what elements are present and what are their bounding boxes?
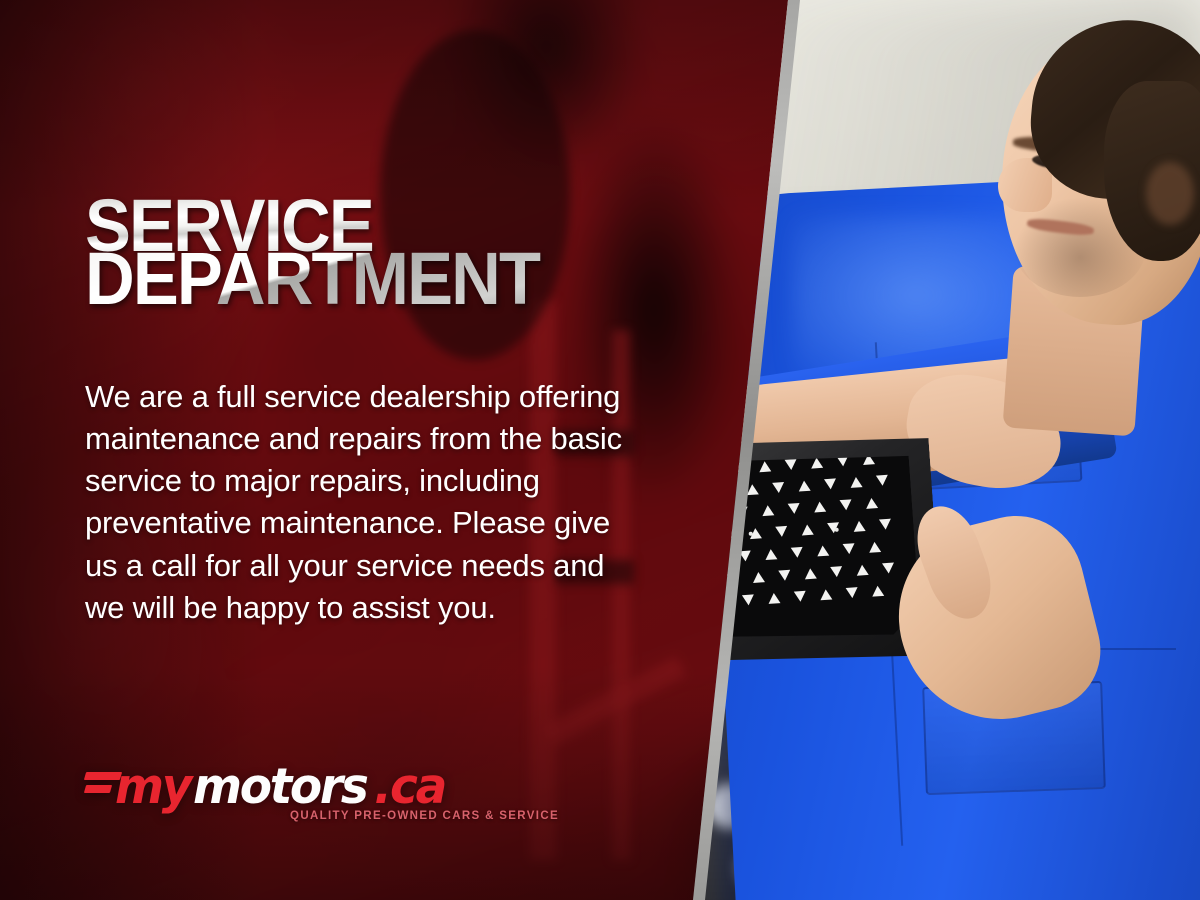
grille-triangle — [871, 584, 885, 597]
grille-triangle — [819, 588, 833, 601]
grille-triangle — [875, 473, 889, 486]
logo-text-my: my — [115, 762, 190, 812]
body-copy: We are a full service dealership offerin… — [85, 376, 625, 629]
grille-triangle — [842, 542, 856, 555]
grille-triangle — [790, 546, 804, 559]
grille-triangle — [772, 481, 786, 494]
grille-triangle — [761, 504, 775, 517]
grille-triangle — [868, 540, 882, 553]
grille-triangle — [758, 460, 772, 473]
grille-triangle — [752, 570, 766, 583]
grille-triangle — [778, 569, 792, 582]
content-column: SERVICE DEPARTMENT We are a full service… — [85, 0, 685, 900]
grille-triangle — [845, 586, 859, 599]
grille-triangle — [852, 519, 866, 532]
grille-triangle — [787, 502, 801, 515]
grille-cutouts — [712, 448, 921, 646]
grille-triangle — [775, 525, 789, 538]
grille-triangle — [726, 572, 740, 585]
service-department-banner: SERVICE DEPARTMENT We are a full service… — [0, 0, 1200, 900]
ear-shadow — [1146, 162, 1194, 225]
grille-triangle — [878, 517, 892, 530]
grille-triangle — [813, 500, 827, 513]
page-title: SERVICE DEPARTMENT — [85, 196, 685, 308]
headline-line-2: DEPARTMENT — [85, 249, 643, 308]
grille-triangle — [746, 483, 760, 496]
grille-triangle — [741, 593, 755, 606]
grille-triangle — [816, 544, 830, 557]
logo-tagline: QUALITY PRE-OWNED CARS & SERVICE — [290, 810, 559, 822]
mymotors-logo[interactable]: mymotors.ca QUALITY PRE-OWNED CARS & SER… — [85, 762, 555, 834]
grille-triangle — [881, 561, 895, 574]
grille-triangle — [823, 477, 837, 490]
grille-triangle — [738, 549, 752, 562]
grille-triangle — [797, 479, 811, 492]
grille-rivet — [835, 527, 839, 531]
grille-triangle — [849, 475, 863, 488]
grille-triangle — [856, 563, 870, 576]
grille-triangle — [793, 589, 807, 602]
logo-text-dot: . — [374, 762, 390, 812]
grille-triangle — [801, 523, 815, 536]
grille-triangle — [839, 498, 853, 511]
grille-triangle — [735, 505, 749, 518]
grille-triangle — [804, 567, 818, 580]
grille-triangle — [764, 547, 778, 560]
grille-triangle — [865, 496, 879, 509]
grille-triangle — [830, 565, 844, 578]
logo-text-ca: ca — [390, 762, 445, 812]
grille-triangle — [784, 458, 798, 471]
logo-wordmark: mymotors.ca — [85, 762, 555, 812]
logo-text-motors: motors — [193, 762, 367, 812]
grille-triangle — [767, 591, 781, 604]
